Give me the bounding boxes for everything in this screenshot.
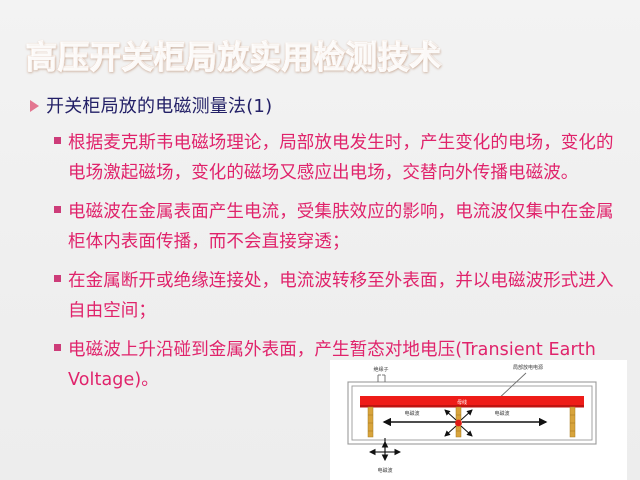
busbar-label: 母线	[457, 399, 467, 406]
switchgear-diagram-panel: 绝缘子 局部放电电源 母线	[330, 360, 627, 480]
wave-label-left: 电磁波	[404, 410, 419, 417]
arrow-right-icon	[30, 100, 39, 112]
slide-canvas: 高压开关柜局放实用检测技术 开关柜局放的电磁测量法(1) 根据麦克斯韦电磁场理论…	[0, 0, 640, 480]
diagram-background	[330, 360, 627, 480]
diagram-caption-pd-source: 局部放电电源	[513, 364, 543, 371]
insulator-post-left	[368, 407, 373, 437]
subtitle-label: 开关柜局放的电磁测量法(1)	[46, 92, 272, 118]
list-item: 根据麦克斯韦电磁场理论，局部放电发生时，产生变化的电场，变化的电场激起磁场，变化…	[54, 128, 630, 188]
square-bullet-icon	[54, 137, 61, 144]
page-title: 高压开关柜局放实用检测技术	[26, 36, 426, 80]
list-item-label: 电磁波在金属表面产生电流，受集肤效应的影响，电流波仅集中在金属柜体内表面传播，而…	[68, 197, 630, 257]
list-item-label: 在金属断开或绝缘连接处，电流波转移至外表面，并以电磁波形式进入自由空间；	[68, 266, 630, 326]
list-item: 在金属断开或绝缘连接处，电流波转移至外表面，并以电磁波形式进入自由空间；	[54, 266, 630, 326]
square-bullet-icon	[54, 275, 61, 282]
wave-label-bottom: 电磁波	[377, 467, 392, 474]
insulator-post-right	[570, 407, 575, 437]
square-bullet-icon	[54, 344, 61, 351]
discharge-point	[455, 420, 462, 427]
title-block: 高压开关柜局放实用检测技术	[26, 36, 426, 80]
switchgear-diagram: 绝缘子 局部放电电源 母线	[330, 360, 627, 480]
list-item-label: 根据麦克斯韦电磁场理论，局部放电发生时，产生变化的电场，变化的电场激起磁场，变化…	[68, 128, 630, 188]
subtitle-row: 开关柜局放的电磁测量法(1)	[30, 92, 272, 118]
square-bullet-icon	[54, 206, 61, 213]
wave-label-right: 电磁波	[494, 410, 509, 417]
busbar-shadow	[360, 405, 584, 408]
list-item: 电磁波在金属表面产生电流，受集肤效应的影响，电流波仅集中在金属柜体内表面传播，而…	[54, 197, 630, 257]
diagram-caption-insulator: 绝缘子	[373, 366, 388, 373]
